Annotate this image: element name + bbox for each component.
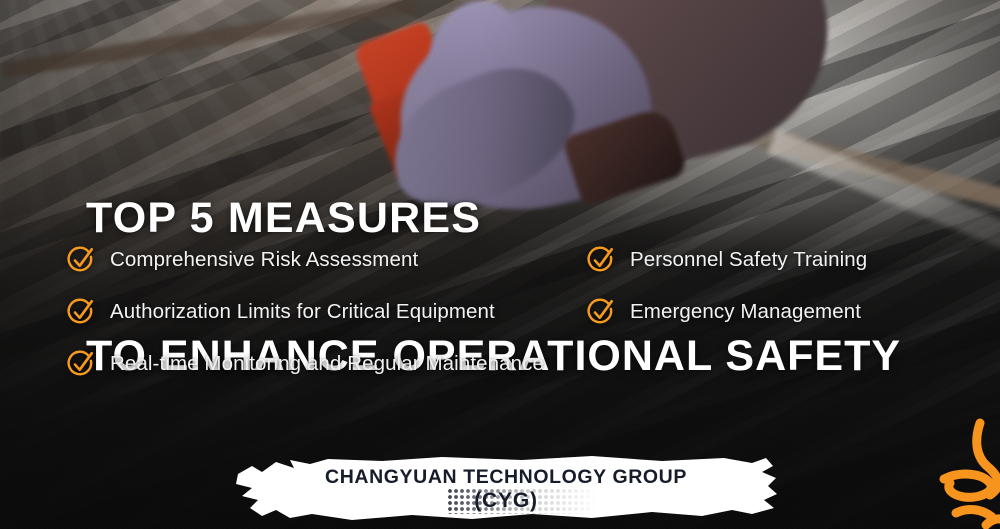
list-item-label: Authorization Limits for Critical Equipm…	[110, 300, 495, 324]
check-circle-icon	[66, 297, 96, 327]
list-item: Authorization Limits for Critical Equipm…	[66, 290, 586, 333]
list-item-label: Comprehensive Risk Assessment	[110, 248, 418, 272]
list-item: Comprehensive Risk Assessment	[66, 238, 586, 281]
list-item: Real-time Monitoring and Regular Mainten…	[66, 342, 586, 385]
list-item-label: Personnel Safety Training	[630, 248, 867, 272]
measures-column-left-cell-3: Real-time Monitoring and Regular Mainten…	[66, 342, 586, 385]
company-name: CHANGYUAN TECHNOLOGY GROUP (CYG)	[232, 452, 780, 524]
list-item-label: Real-time Monitoring and Regular Mainten…	[110, 352, 544, 376]
measures-row-2: Authorization Limits for Critical Equipm…	[66, 290, 946, 333]
measures-list: Comprehensive Risk Assessment Personnel …	[66, 238, 946, 394]
orange-scribble-icon	[916, 417, 1000, 529]
measures-row-1: Comprehensive Risk Assessment Personnel …	[66, 238, 946, 281]
company-banner: CHANGYUAN TECHNOLOGY GROUP (CYG)	[232, 452, 780, 524]
measures-column-right-cell-2: Emergency Management	[586, 290, 946, 333]
measures-column-right-cell-1: Personnel Safety Training	[586, 238, 946, 281]
check-circle-icon	[586, 297, 616, 327]
headline-line-1: TOP 5 MEASURES	[86, 195, 901, 241]
poster-canvas: TOP 5 MEASURES TO ENHANCE OPERATIONAL SA…	[0, 0, 1000, 529]
measures-row-3: Real-time Monitoring and Regular Mainten…	[66, 342, 946, 385]
company-name-line-1: CHANGYUAN TECHNOLOGY GROUP	[325, 465, 687, 489]
measures-column-left-cell-1: Comprehensive Risk Assessment	[66, 238, 586, 281]
company-name-line-2: (CYG)	[474, 489, 538, 513]
list-item-label: Emergency Management	[630, 300, 861, 324]
list-item: Personnel Safety Training	[586, 238, 946, 281]
list-item: Emergency Management	[586, 290, 946, 333]
check-circle-icon	[66, 245, 96, 275]
check-circle-icon	[66, 349, 96, 379]
measures-column-left-cell-2: Authorization Limits for Critical Equipm…	[66, 290, 586, 333]
check-circle-icon	[586, 245, 616, 275]
poster-content: TOP 5 MEASURES TO ENHANCE OPERATIONAL SA…	[0, 0, 1000, 529]
